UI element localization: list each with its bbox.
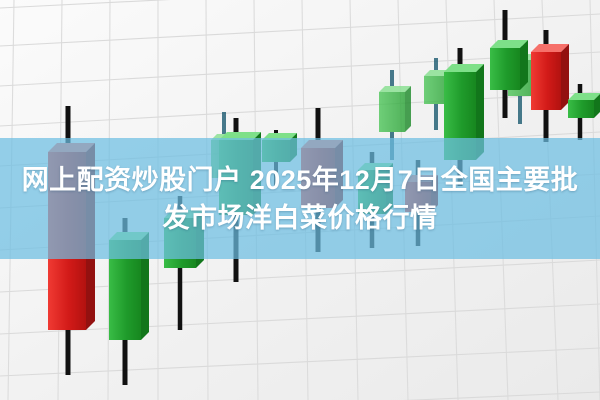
- banner-image: 网上配资炒股门户 2025年12月7日全国主要批 发市场洋白菜价格行情: [0, 0, 600, 400]
- headline-overlay-band: [0, 138, 600, 259]
